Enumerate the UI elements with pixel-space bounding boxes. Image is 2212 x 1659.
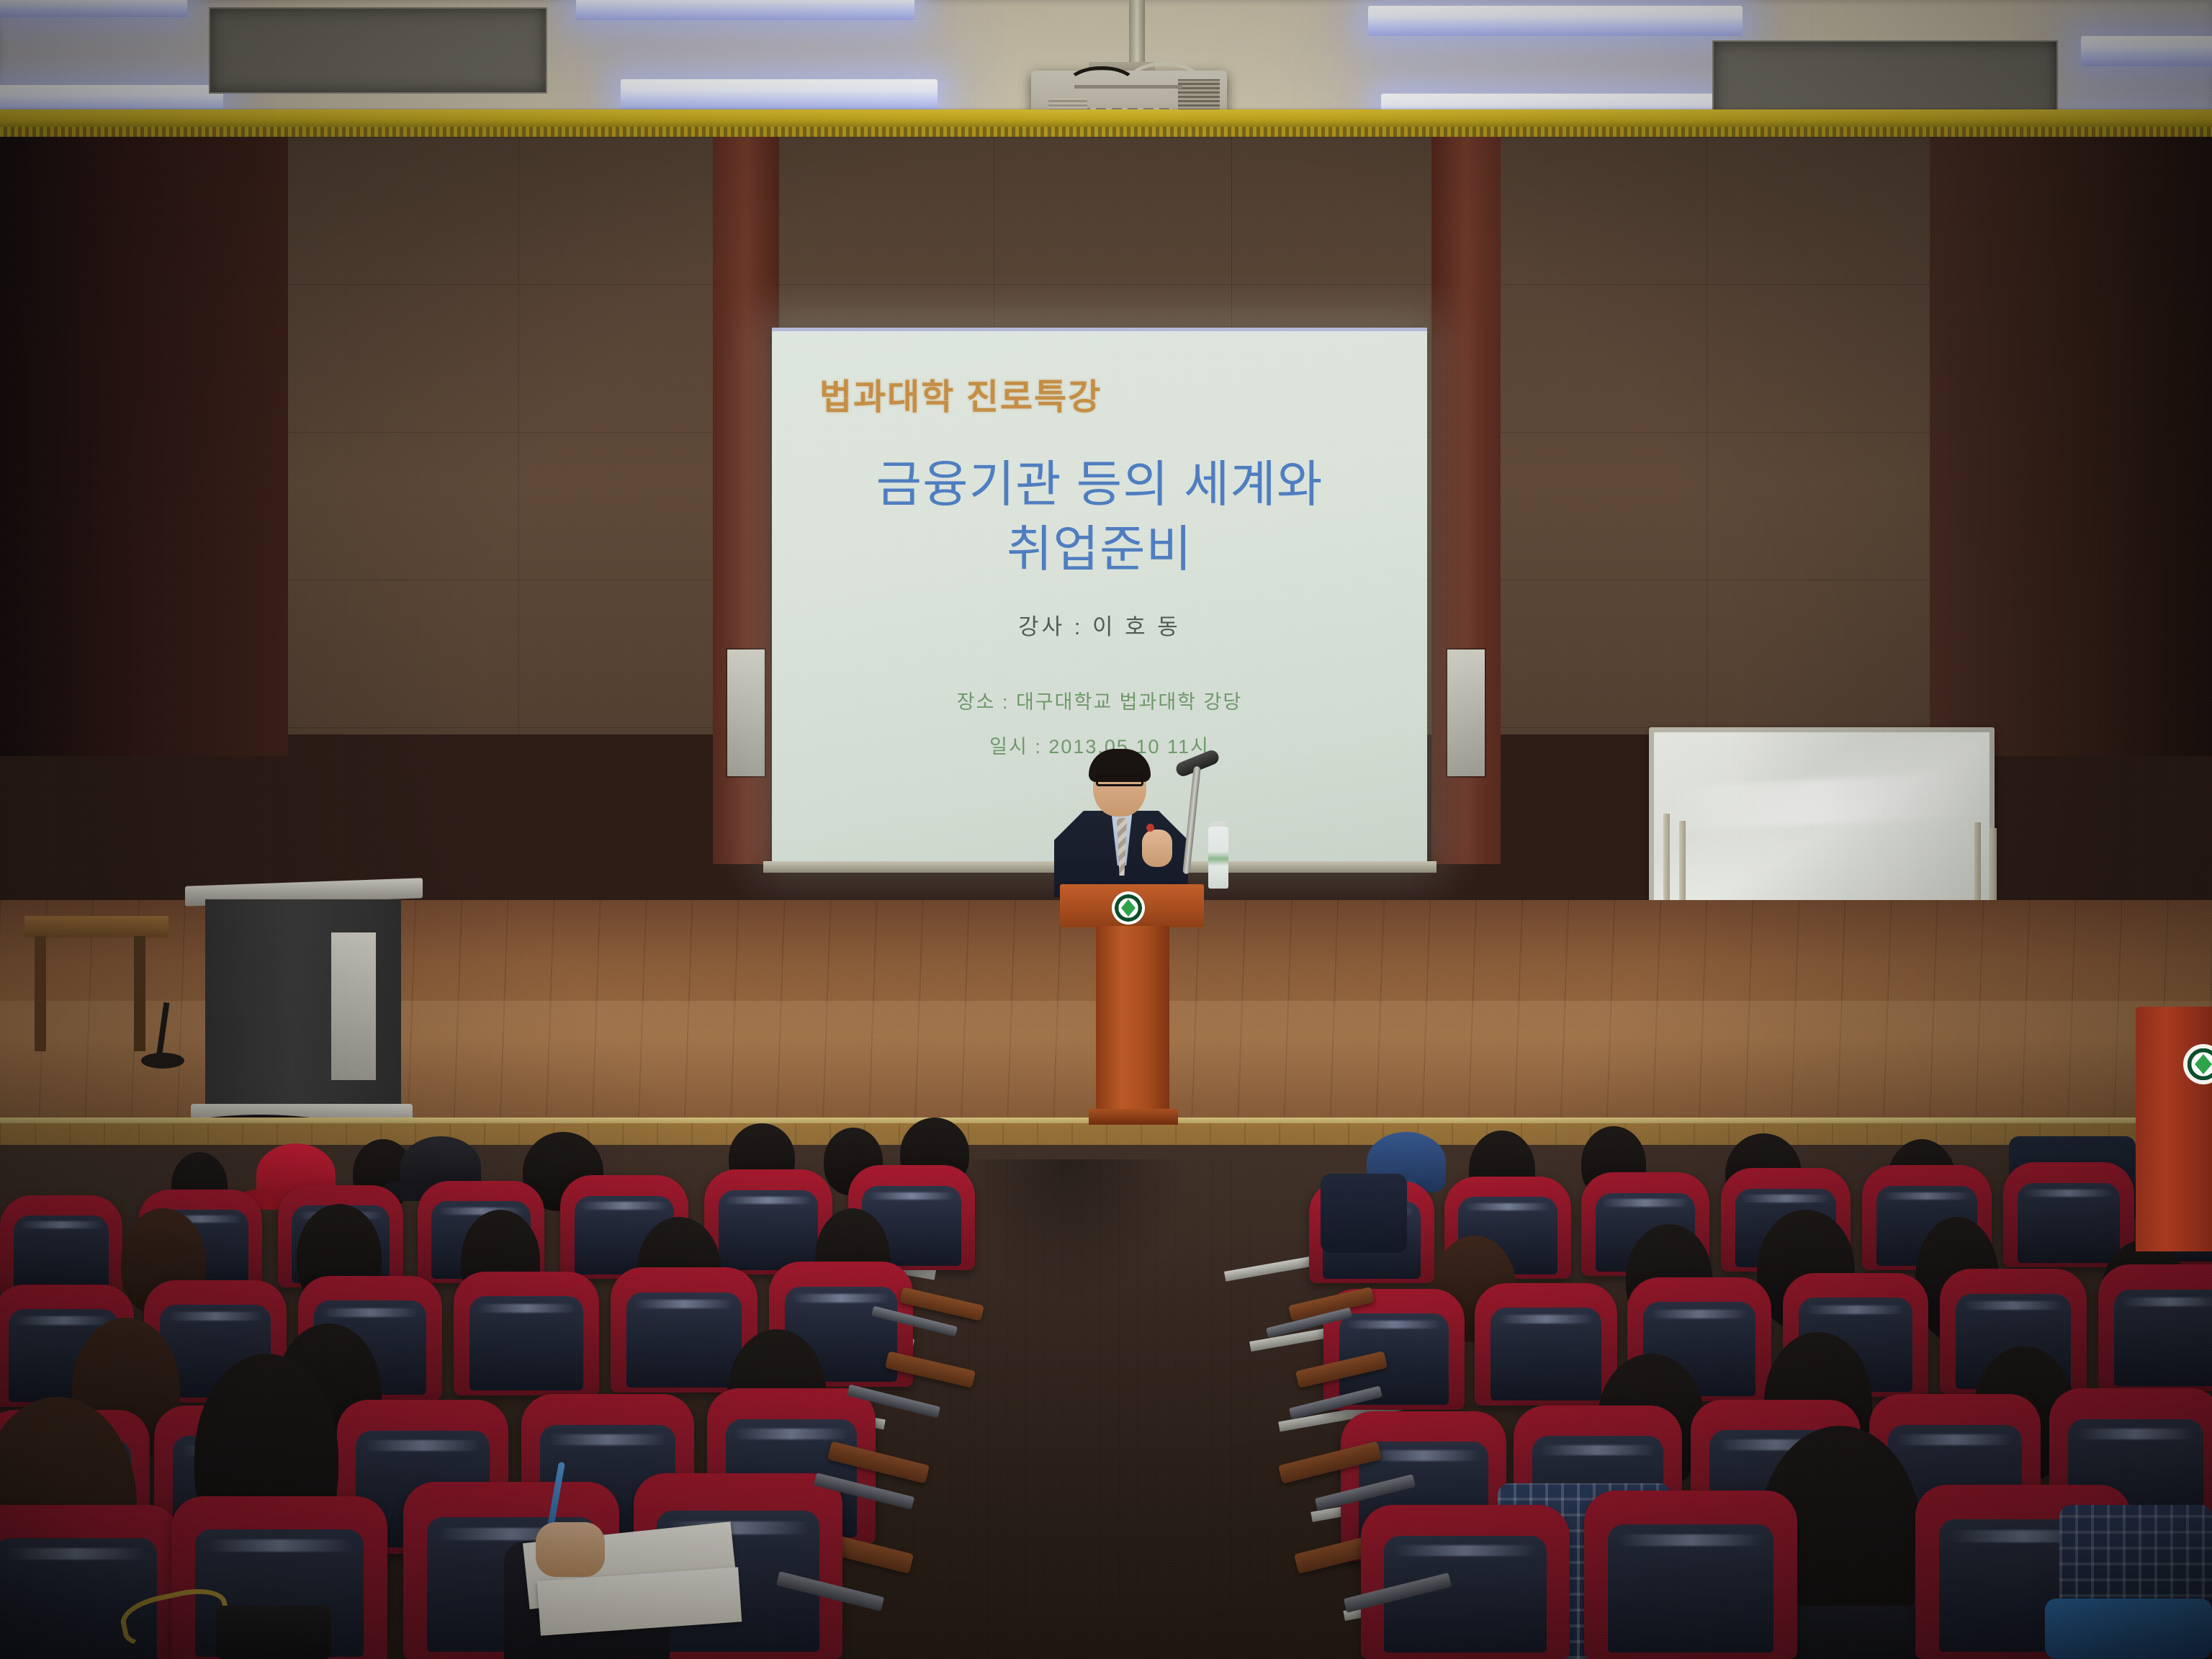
ceiling-light-strip <box>2081 36 2212 66</box>
side-table-leg <box>134 936 145 1051</box>
whiteboard-surface <box>1649 727 1995 907</box>
ceiling-light-strip <box>576 0 914 20</box>
wall-inset-panel-left <box>726 648 766 778</box>
slide-header: 법과대학 진로특강 <box>819 369 1102 420</box>
podium-desktop <box>1060 884 1204 927</box>
floor-microphone-base <box>141 1053 184 1069</box>
podium-column <box>1096 926 1169 1112</box>
backpack-on-seat <box>1321 1174 1407 1253</box>
ceiling-light-strip <box>0 0 187 17</box>
seat[interactable] <box>2003 1162 2134 1267</box>
projector-cable <box>1125 62 1204 108</box>
wall-inset-panel-right <box>1446 648 1486 778</box>
water-bottle <box>1208 827 1228 889</box>
slide-title-line-1: 금융기관 등의 세계와 <box>772 452 1427 517</box>
university-emblem-icon <box>2183 1044 2212 1084</box>
stage-right-wall <box>1930 137 2212 756</box>
plaid-jacket <box>2059 1505 2212 1613</box>
presenter-lapel-pin <box>1146 824 1154 832</box>
university-emblem-icon <box>1112 891 1145 925</box>
av-control-lectern <box>198 882 414 1127</box>
presenter-glasses-icon <box>1096 775 1143 786</box>
lecture-hall-photo: 법과대학 진로특강 금융기관 등의 세계와 취업준비 강사 : 이 호 동 장소… <box>0 0 2212 1659</box>
side-table-leg <box>35 936 46 1051</box>
seat[interactable] <box>1475 1283 1617 1406</box>
slide-speaker-line: 강사 : 이 호 동 <box>772 608 1427 641</box>
seat[interactable] <box>2098 1264 2212 1391</box>
stage-valance <box>0 109 2212 128</box>
seat[interactable] <box>0 1195 122 1296</box>
lectern-side-panel <box>331 932 376 1080</box>
ceiling-light-strip <box>621 79 938 111</box>
side-table <box>24 916 168 938</box>
side-red-podium <box>2136 1007 2212 1251</box>
seat[interactable] <box>1584 1491 1797 1659</box>
ceiling-light-strip <box>1368 6 1743 36</box>
ceiling-vent-panel <box>209 7 547 94</box>
blue-cloth <box>2045 1599 2212 1659</box>
stage-left-curtain <box>0 137 288 756</box>
student-hand <box>536 1522 605 1577</box>
seat[interactable] <box>454 1272 599 1395</box>
slide-title-line-2: 취업준비 <box>772 517 1427 582</box>
seat[interactable] <box>1361 1505 1570 1659</box>
seat[interactable] <box>704 1169 832 1274</box>
podium-foot <box>1089 1109 1178 1125</box>
presenter-hand <box>1142 829 1172 867</box>
handbag <box>216 1606 331 1659</box>
slide-title: 금융기관 등의 세계와 취업준비 <box>772 452 1427 581</box>
slide-venue-line: 장소 : 대구대학교 법과대학 강당 <box>772 686 1427 714</box>
speaker-podium <box>1060 884 1204 1129</box>
